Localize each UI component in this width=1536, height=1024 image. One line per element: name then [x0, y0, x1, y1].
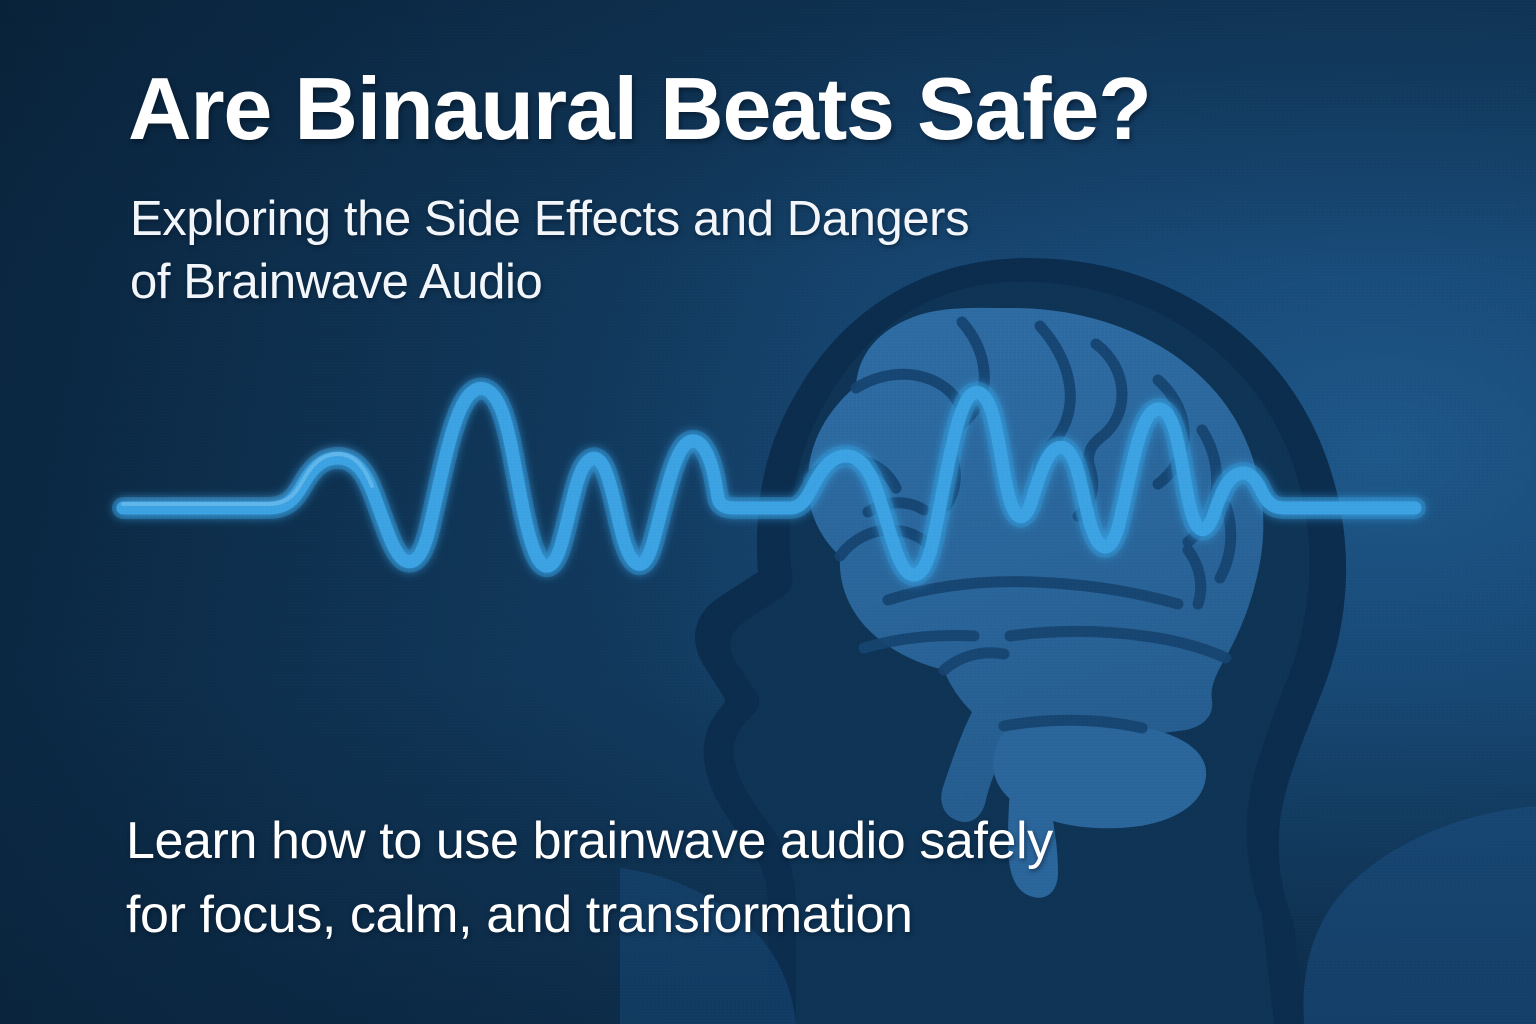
subtitle: Exploring the Side Effects and Dangers o… — [130, 188, 1230, 313]
subtitle-line-1: Exploring the Side Effects and Dangers — [130, 192, 969, 246]
subtitle-line-2: of Brainwave Audio — [130, 251, 1230, 314]
tagline-line-1: Learn how to use brainwave audio safely — [126, 812, 1053, 870]
tagline-line-2: for focus, calm, and transformation — [126, 879, 1246, 953]
tagline: Learn how to use brainwave audio safely … — [126, 805, 1246, 953]
poster-canvas: Are Binaural Beats Safe? Exploring the S… — [0, 0, 1536, 1024]
text-content: Are Binaural Beats Safe? Exploring the S… — [0, 0, 1536, 1024]
page-title: Are Binaural Beats Safe? — [128, 62, 1448, 155]
